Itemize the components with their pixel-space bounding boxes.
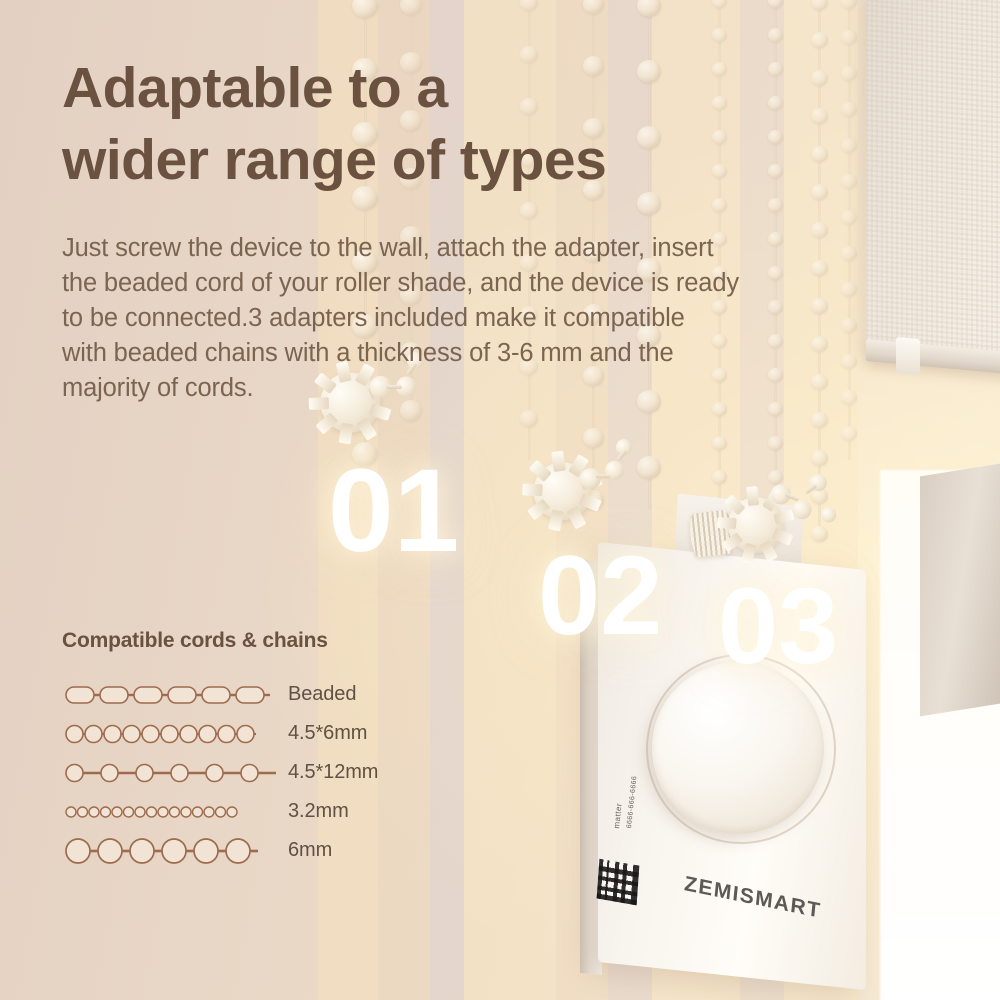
cog-tooth (339, 422, 354, 444)
legend-row: 3.2mm (62, 792, 462, 831)
chain-bead (637, 126, 661, 149)
chain-bead (768, 28, 783, 42)
chain-bead (841, 174, 857, 189)
chain-bead (811, 108, 828, 124)
chain-bead (841, 0, 857, 9)
cog-tooth (567, 506, 586, 529)
product-feature-image: matter 6666-666-6666 ZEMISMART Adaptable… (0, 0, 1000, 1000)
chain-bead (841, 138, 857, 153)
chain-bead (841, 426, 857, 441)
chain-bead (768, 130, 783, 144)
legend-label: 6mm (288, 839, 332, 862)
chain-bead (712, 28, 727, 42)
description-paragraph: Just screw the device to the wall, attac… (62, 231, 932, 406)
cog-tooth (773, 509, 794, 525)
compatible-cords-legend: Compatible cords & chains Beaded4.5*6mm4… (62, 629, 462, 870)
chain-bead (352, 0, 378, 18)
step-number-03: 03 (718, 572, 838, 680)
cog-tooth (548, 510, 563, 532)
chain-bead (520, 0, 538, 11)
legend-row: 6mm (62, 831, 462, 870)
window-jamb (920, 464, 1000, 717)
chain-bead (520, 410, 538, 427)
large-bead-chain-icon (62, 838, 282, 864)
cog-tooth (529, 460, 551, 482)
legend-label: 3.2mm (288, 800, 349, 823)
cog-tooth (315, 412, 338, 435)
chain-bead (768, 0, 783, 8)
step-number-02: 02 (538, 540, 663, 652)
chain-bead (768, 164, 783, 178)
cog-tooth (579, 493, 602, 511)
chain-bead (637, 192, 661, 215)
legend-row: 4.5*12mm (62, 753, 462, 792)
chain-bead (811, 184, 828, 200)
cog-tooth (771, 528, 793, 546)
adapter-chain-link (596, 474, 611, 478)
round-bead-chain-icon (62, 721, 282, 747)
qr-code-icon (597, 859, 640, 906)
chain-bead (768, 62, 783, 76)
chain-bead (400, 0, 422, 15)
legend-label: 4.5*12mm (288, 761, 378, 784)
legend-label: Beaded (288, 683, 356, 706)
chain-bead (583, 0, 604, 14)
cog-tooth (717, 517, 737, 529)
step-number-01: 01 (328, 452, 459, 570)
chain-bead (637, 60, 661, 83)
chain-bead (841, 30, 857, 45)
adapter-bead (792, 499, 813, 520)
chain-bead (811, 146, 828, 162)
spaced-bead-chain-icon (62, 760, 282, 786)
cog-tooth (368, 403, 391, 421)
cog-tooth (746, 486, 759, 506)
chain-bead (811, 0, 828, 10)
chain-bead (841, 210, 857, 225)
legend-label: 4.5*6mm (288, 722, 367, 745)
chain-bead (712, 164, 727, 178)
chain-bead (811, 32, 828, 48)
cog-tooth (759, 540, 777, 562)
chain-bead (637, 0, 661, 17)
legend-title: Compatible cords & chains (62, 629, 462, 653)
chain-bead (768, 198, 783, 212)
chain-bead (768, 436, 783, 450)
cog-tooth (551, 451, 565, 472)
cog-tooth (522, 484, 542, 496)
chain-bead (841, 66, 857, 81)
chain-bead (712, 198, 727, 212)
fine-bead-chain-icon (62, 799, 282, 825)
chain-bead (712, 436, 727, 450)
chain-bead (811, 70, 828, 86)
chain-bead (768, 96, 783, 110)
page-title: Adaptable to a wider range of types (62, 52, 606, 197)
chain-bead (712, 0, 727, 8)
chain-bead (520, 202, 538, 219)
chain-bead (712, 96, 727, 110)
chain-bead (811, 412, 828, 428)
legend-row: 4.5*6mm (62, 714, 462, 753)
chain-bead (712, 62, 727, 76)
chain-bead (712, 130, 727, 144)
legend-row: Beaded (62, 675, 462, 714)
cog-tooth (741, 543, 756, 564)
beaded-oval-chain-icon (62, 682, 282, 708)
adapter-bead (820, 507, 836, 523)
chain-bead (841, 102, 857, 117)
cog-tooth (356, 417, 377, 441)
cog-tooth (527, 499, 550, 520)
